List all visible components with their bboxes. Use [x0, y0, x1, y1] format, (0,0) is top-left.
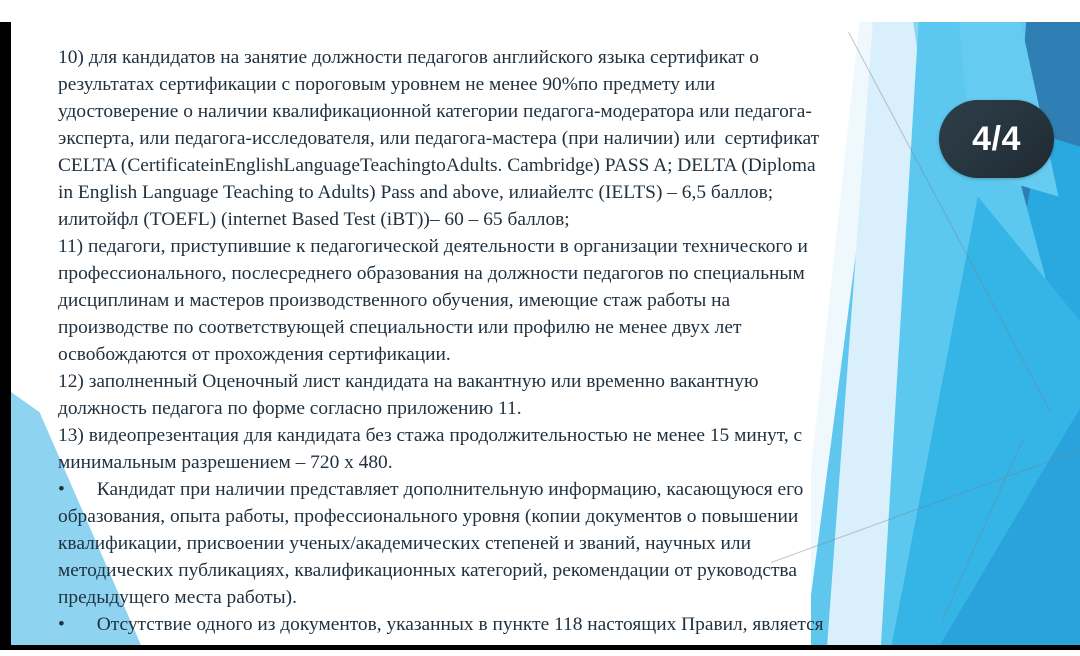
art-hairline-1	[848, 32, 1051, 412]
bottom-gutter	[0, 650, 1080, 656]
paragraph-bullet-2: • Отсутствие одного из документов, указа…	[58, 611, 833, 645]
slide-body-text: 10) для кандидатов на занятие должности …	[58, 44, 833, 645]
paragraph-item-10: 10) для кандидатов на занятие должности …	[58, 44, 833, 233]
paragraph-item-12: 12) заполненный Оценочный лист кандидата…	[58, 368, 833, 422]
paragraph-bullet-1: • Кандидат при наличии представляет допо…	[58, 476, 833, 611]
page-counter-badge: 4/4	[939, 100, 1054, 178]
letterbox-left	[0, 22, 11, 650]
slide-canvas: 4/4 10) для кандидатов на занятие должно…	[11, 22, 1080, 645]
paragraph-item-13: 13) видеопрезентация для кандидата без с…	[58, 422, 833, 476]
art-hairline-3	[941, 439, 1023, 622]
paragraph-item-11: 11) педагоги, приступившие к педагогичес…	[58, 233, 833, 368]
slide-root: 4/4 10) для кандидатов на занятие должно…	[0, 0, 1080, 656]
page-counter-label: 4/4	[972, 122, 1021, 156]
top-gutter	[0, 0, 1080, 22]
